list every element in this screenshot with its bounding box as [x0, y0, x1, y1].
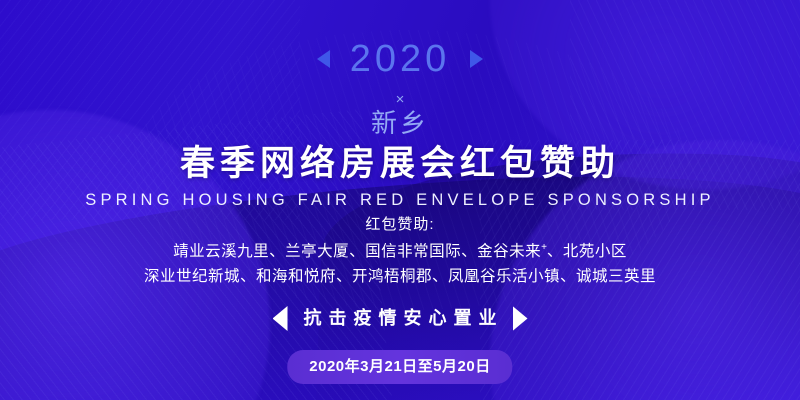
slogan-banner: 抗击疫情安心置业: [0, 306, 800, 331]
separator-symbol: ×: [0, 92, 800, 107]
triangle-left-icon: [317, 50, 330, 68]
sponsor-line-text: 靖业云溪九里、兰亭大厦、国信非常国际、金谷未来: [173, 243, 541, 260]
city-name: 新乡: [0, 108, 800, 139]
year-text: 2020: [350, 40, 451, 78]
sponsor-list-line: 靖业云溪九里、兰亭大厦、国信非常国际、金谷未来+、北苑小区: [0, 240, 800, 263]
slogan-text: 抗击疫情安心置业: [297, 307, 504, 330]
chevron-right-icon: [513, 306, 528, 331]
year-row: 2020: [0, 40, 800, 78]
page-subtitle: SPRING HOUSING FAIR RED ENVELOPE SPONSOR…: [0, 190, 800, 211]
sponsor-list-line: 深业世纪新城、和海和悦府、开鸿梧桐郡、凤凰谷乐活小镇、诚城三英里: [0, 265, 800, 288]
date-range-badge: 2020年3月21日至5月20日: [287, 350, 512, 384]
promo-banner: 2020 × 新乡 春季网络房展会红包赞助 SPRING HOUSING FAI…: [0, 0, 800, 400]
page-title: 春季网络房展会红包赞助: [0, 142, 800, 186]
triangle-right-icon: [470, 50, 483, 68]
sponsor-section-label: 红包赞助:: [0, 214, 800, 235]
chevron-left-icon: [273, 306, 288, 331]
sponsor-line-text-tail: 、北苑小区: [547, 243, 627, 260]
sponsor-line-text: 深业世纪新城、和海和悦府、开鸿梧桐郡、凤凰谷乐活小镇、诚城三英里: [144, 268, 656, 285]
banner-content: 2020 × 新乡 春季网络房展会红包赞助 SPRING HOUSING FAI…: [0, 0, 800, 400]
